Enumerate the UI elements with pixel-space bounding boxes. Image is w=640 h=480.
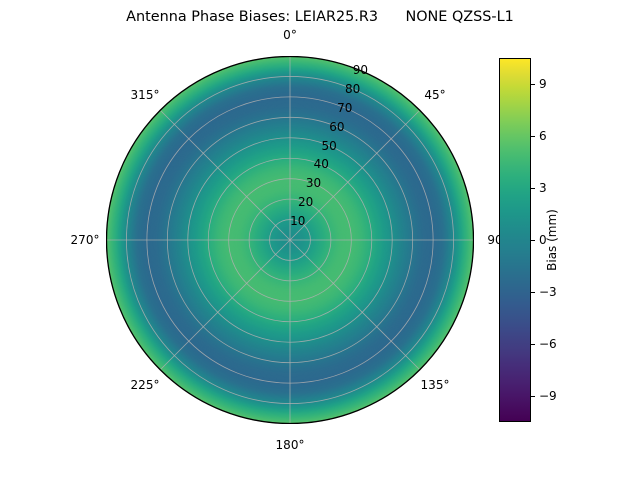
colorbar-tick [531,240,535,241]
colorbar-axes[interactable]: 9630−3−6−9 [499,58,531,422]
radial-tick-label: 10 [290,214,305,228]
colorbar-gradient [499,58,531,422]
colorbar-tick-label: 3 [539,181,547,195]
angle-tick-label: 270° [71,233,100,247]
colorbar-axis-label: Bias (mm) [545,209,559,271]
colorbar-tick [531,396,535,397]
colorbar-tick-label: 6 [539,129,547,143]
polar-plot-svg [106,56,474,424]
colorbar-tick [531,136,535,137]
angle-tick-label: 180° [276,438,305,452]
figure-canvas: Antenna Phase Biases: LEIAR25.R3 NONE QZ… [0,0,640,480]
polar-axes[interactable]: 0°45°90135°180°225°270°315° 102030405060… [106,56,474,424]
radial-tick-label: 60 [329,120,344,134]
colorbar-tick [531,84,535,85]
colorbar-tick [531,344,535,345]
radial-tick-label: 40 [314,157,329,171]
radial-tick-label: 80 [345,82,360,96]
polar-gridlines [106,56,474,424]
radial-tick-label: 30 [306,176,321,190]
chart-title: Antenna Phase Biases: LEIAR25.R3 NONE QZ… [0,9,640,25]
radial-tick-label: 90 [353,63,368,77]
colorbar-tick-label: −3 [539,285,557,299]
colorbar-tick [531,292,535,293]
colorbar-tick [531,188,535,189]
angle-tick-label: 135° [421,378,450,392]
colorbar-tick-label: −6 [539,337,557,351]
angle-tick-label: 225° [131,378,160,392]
colorbar-tick-label: −9 [539,389,557,403]
radial-tick-label: 70 [337,101,352,115]
radial-tick-label: 50 [321,139,336,153]
angle-tick-label: 315° [131,88,160,102]
angle-tick-label: 45° [424,88,445,102]
angle-tick-label: 0° [283,28,297,42]
radial-tick-label: 20 [298,195,313,209]
colorbar-tick-label: 9 [539,77,547,91]
